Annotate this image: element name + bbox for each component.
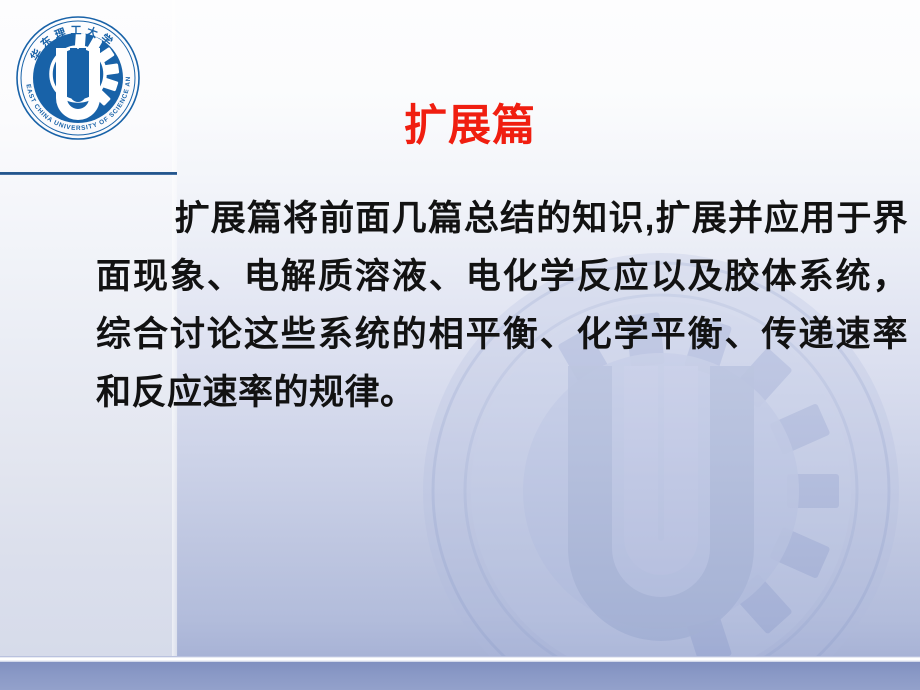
presentation-slide: EAST CHINA UNIVERSITY OF SCIENCE AND TEC… [0,0,920,690]
page-title: 扩展篇 [404,101,536,151]
university-logo-icon: EAST CHINA UNIVERSITY OF SCIENCE AND TEC… [12,12,144,144]
bottom-band [0,662,920,690]
header-rule [0,172,177,175]
paragraph-text: 扩展篇将前面几篇总结的知识,扩展并应用于界面现象、电解质溶液、电化学反应以及胶体… [96,199,908,412]
slide-body-text: 扩展篇将前面几篇总结的知识,扩展并应用于界面现象、电解质溶液、电化学反应以及胶体… [96,190,908,422]
